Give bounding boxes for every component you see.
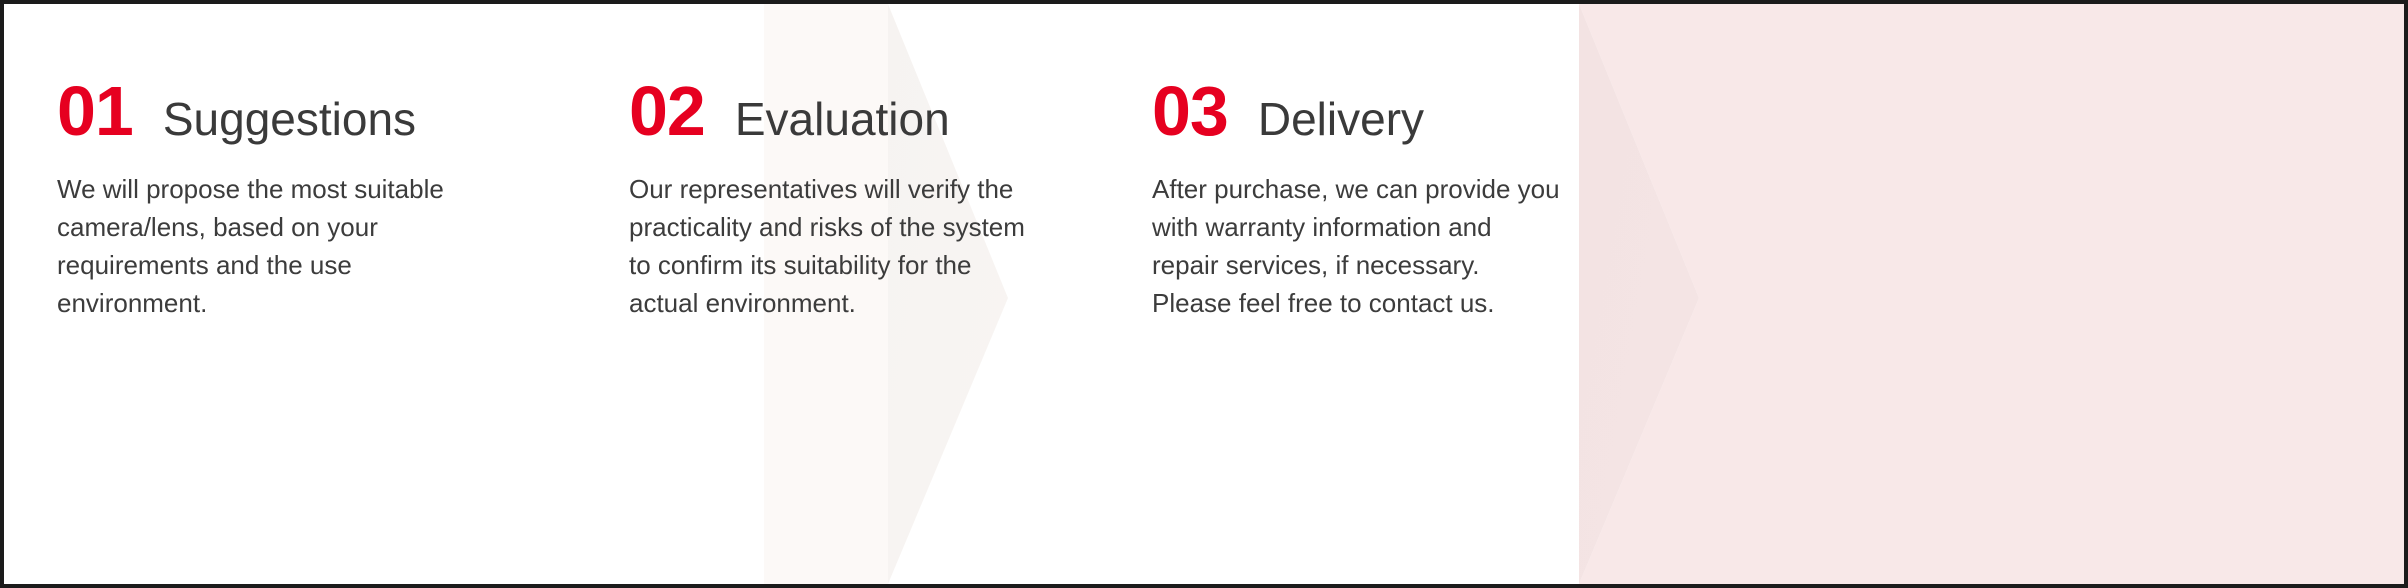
step-2-description-line: to confirm its suitability for the (629, 246, 1025, 284)
step-3-description-line: with warranty information and (1152, 208, 1560, 246)
step-3-description-line: repair services, if necessary. (1152, 246, 1560, 284)
step-3-description: After purchase, we can provide you with … (1152, 170, 1560, 322)
step-2-heading: 02 Evaluation (629, 76, 950, 146)
step-2-description-line: practicality and risks of the system (629, 208, 1025, 246)
step-2-description: Our representatives will verify the prac… (629, 170, 1025, 322)
step-2-description-line: Our representatives will verify the (629, 170, 1025, 208)
step-2-description-line: actual environment. (629, 284, 1025, 322)
step-1-number: 01 (57, 76, 133, 146)
step-1-description-line: We will propose the most suitable (57, 170, 444, 208)
step-1-heading: 01 Suggestions (57, 76, 416, 146)
process-diagram: 01 Suggestions We will propose the most … (0, 0, 2408, 588)
step-2-title: Evaluation (735, 96, 950, 142)
step-3-content: 03 Delivery After purchase, we can provi… (1152, 4, 1572, 584)
step-1-description-line: requirements and the use (57, 246, 444, 284)
step-3-heading: 03 Delivery (1152, 76, 1424, 146)
step-1-description-line: camera/lens, based on your (57, 208, 444, 246)
step-1-content: 01 Suggestions We will propose the most … (57, 4, 487, 584)
step-2-number: 02 (629, 76, 705, 146)
step-3-title: Delivery (1258, 96, 1424, 142)
step-3-description-line: Please feel free to contact us. (1152, 284, 1560, 322)
step-3-number: 03 (1152, 76, 1228, 146)
step-2-content: 02 Evaluation Our representatives will v… (629, 4, 1049, 584)
step-1-title: Suggestions (163, 96, 416, 142)
step-3-description-line: After purchase, we can provide you (1152, 170, 1560, 208)
step-1-description: We will propose the most suitable camera… (57, 170, 444, 322)
step-1-description-line: environment. (57, 284, 444, 322)
